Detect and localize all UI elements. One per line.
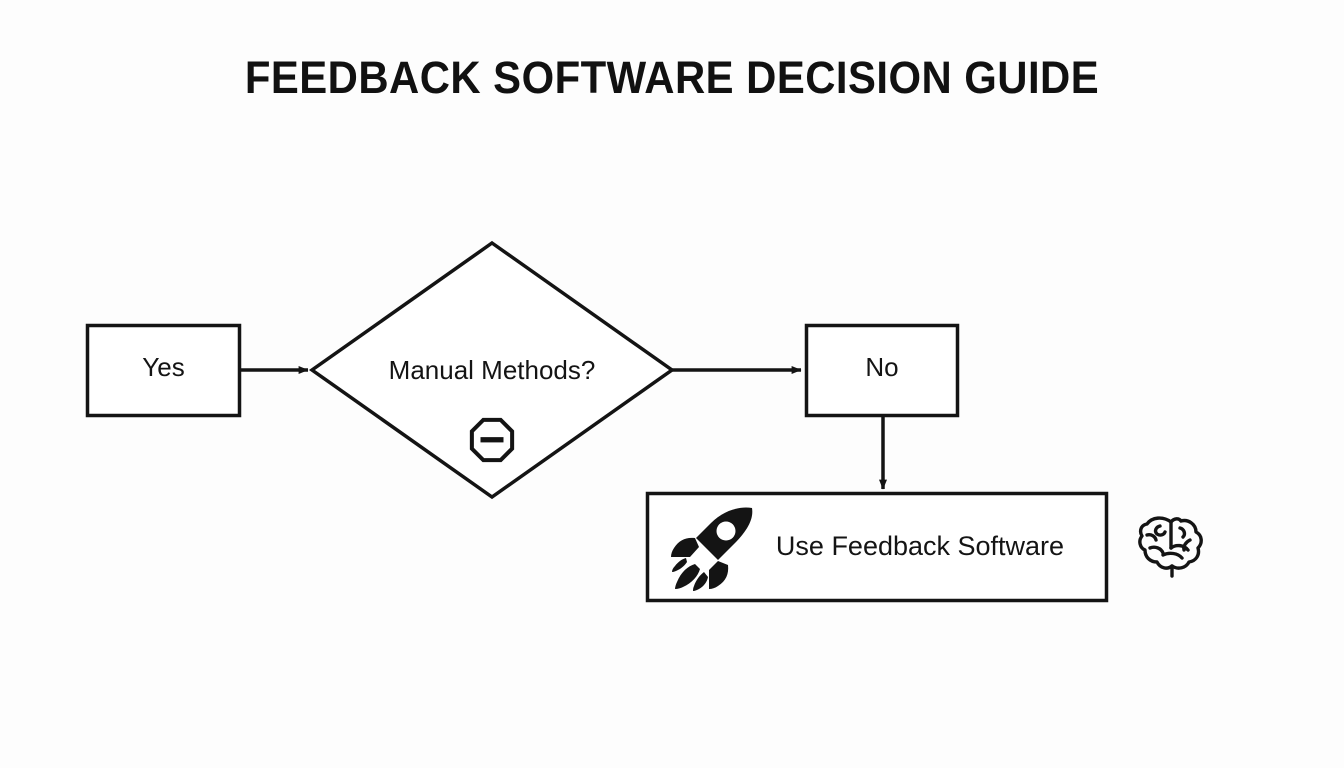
node-no-label: No xyxy=(805,352,959,383)
diagram-canvas: FEEDBACK SOFTWARE DECISION GUIDE Yes Man… xyxy=(0,0,1344,768)
node-yes-label: Yes xyxy=(86,352,241,383)
brain-icon xyxy=(1138,512,1204,582)
flowchart-graphics xyxy=(0,0,1344,768)
no-entry-icon xyxy=(469,417,515,463)
node-action-label: Use Feedback Software xyxy=(740,531,1100,562)
rocket-icon xyxy=(666,504,758,592)
node-decision-label: Manual Methods? xyxy=(332,355,652,386)
